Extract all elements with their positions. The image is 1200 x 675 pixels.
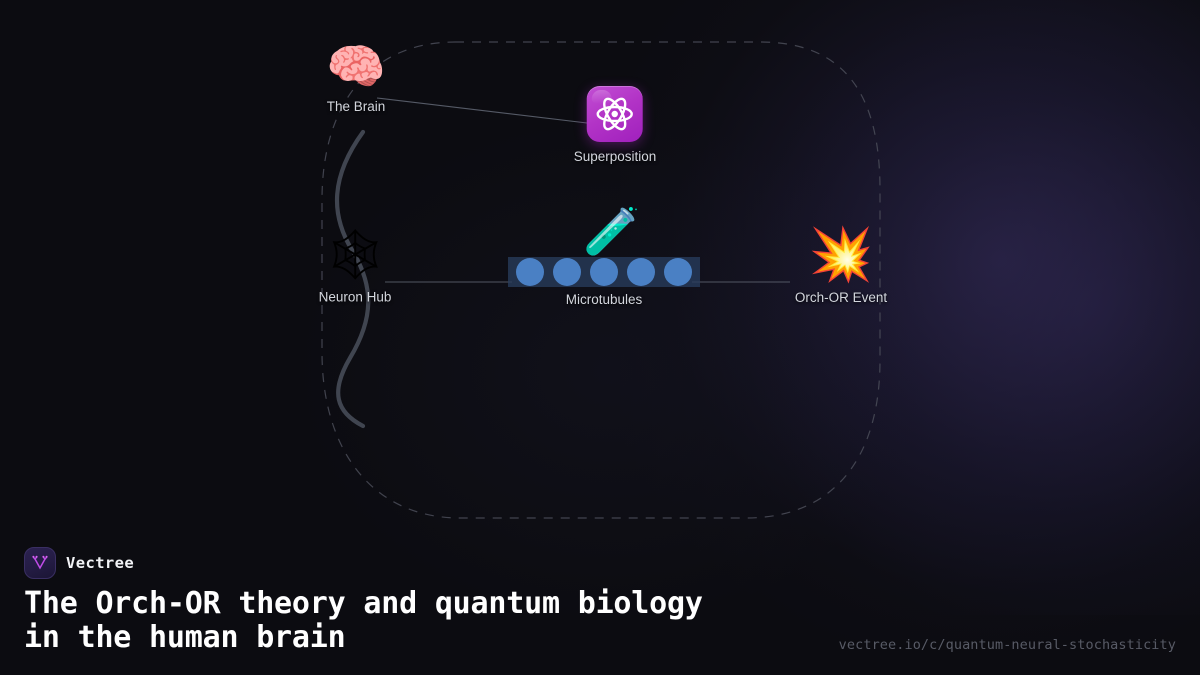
superposition-tile: [587, 86, 643, 142]
microtubule-dot: [553, 258, 581, 286]
page-title: The Orch-OR theory and quantum biology i…: [24, 587, 724, 654]
vectree-branching-v-logo-icon: [24, 547, 56, 579]
node-brain[interactable]: 🧠 The Brain: [326, 44, 386, 114]
node-microtubules[interactable]: 🧪 Microtubules: [508, 257, 700, 307]
collision-explosion-emoji-icon: 💥: [809, 229, 874, 281]
microtubule-dot: [627, 258, 655, 286]
node-label-microtubules: Microtubules: [566, 292, 643, 307]
microtubule-dot: [590, 258, 618, 286]
brand-name: Vectree: [66, 554, 134, 572]
edge-brain-to-superposition: [377, 98, 587, 123]
node-orch-or-event[interactable]: 💥 Orch-OR Event: [795, 229, 887, 305]
atom-symbol-icon: [595, 94, 635, 134]
brand-row[interactable]: Vectree: [24, 547, 134, 579]
microtubule-track: 🧪: [508, 257, 700, 287]
node-neuron-hub[interactable]: 🕸 Neuron Hub: [319, 230, 392, 305]
node-label-orch-or-event: Orch-OR Event: [795, 290, 887, 305]
spider-web-emoji-icon: 🕸: [323, 230, 386, 280]
node-superposition[interactable]: Superposition: [574, 86, 657, 164]
microtubule-dot: [516, 258, 544, 286]
footer: Vectree The Orch-OR theory and quantum b…: [0, 535, 1200, 675]
site-url: vectree.io/c/quantum-neural-stochasticit…: [839, 637, 1176, 653]
brain-emoji-icon: 🧠: [326, 44, 386, 92]
node-label-brain: The Brain: [327, 99, 386, 114]
node-label-neuron-hub: Neuron Hub: [319, 290, 392, 305]
node-label-superposition: Superposition: [574, 149, 657, 164]
microtubule-dot: [664, 258, 692, 286]
screenshot-stage: 🧠 The Brain Superposition 🕸 Neuron Hub: [0, 0, 1200, 675]
